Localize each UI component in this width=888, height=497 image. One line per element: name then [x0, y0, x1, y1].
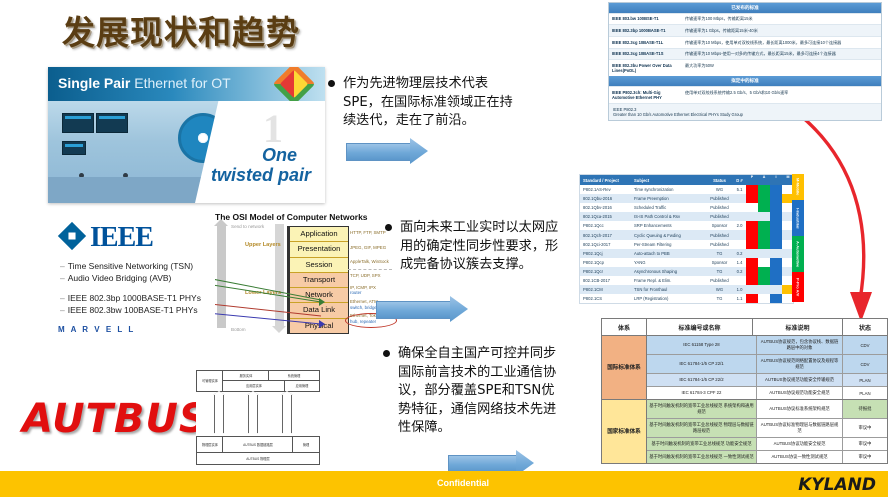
industry-swatch: [746, 185, 758, 194]
osi-diagram: Send to network Bottom Upper Layers Lowe…: [215, 224, 350, 332]
cell-standard: P802.1Qcp: [580, 260, 631, 265]
cell-standard-desc: AUTBUS协议功能安全规范: [757, 438, 843, 450]
ieee-item-label: IEEE 802.3bp 1000BASE-T1 PHYs: [68, 293, 201, 303]
cell-standard: P802.1CM: [580, 287, 631, 292]
table-row: IEEE 803.bw 100BSE-T1 传输速率为100 Mbps，传输距离…: [609, 13, 881, 25]
industry-col-p: P: [746, 175, 758, 184]
cell-industry: [746, 240, 794, 249]
legend-proav: P-Pro A/V: [792, 272, 804, 302]
cell-status: TG: [706, 269, 733, 274]
cell-standard-desc: AUTBUS协议规范网络配置协议及规程等规范: [757, 355, 843, 373]
cell-description: 传输速率为100 Mbps，传输距离15米: [681, 14, 881, 25]
cell-standard: IEEE 802.3bp 1000BASE-T1: [609, 25, 681, 36]
bullet-point-1: 作为先进物理层技术代表SPE，在国际标准领域正在持续迭代，走在了前沿。: [343, 75, 513, 131]
cell-industry: [746, 267, 794, 276]
table-row: IEC 61784-1/5 CP 22/2AUTBUS协议规范功能安全传输规范P…: [647, 374, 887, 387]
industry-swatch: [746, 267, 758, 276]
table-header-row: Standard / Project Subject Status D # P …: [580, 175, 793, 185]
industry-swatch: [770, 212, 782, 221]
bullet-text: 确保全自主国产可控并同步国际前言技术的工业通信协议，部分覆盖SPE和TSN优势特…: [398, 346, 556, 435]
slide-canvas: 发展现状和趋势 Single Pair Ethernet for OT 1 On…: [0, 0, 888, 497]
table-row: IEEE 802.3bp 1000BASE-T1 传输速率为1 Gbps，传输距…: [609, 24, 881, 36]
table-row: IEEE 802.3cg 10BASE-T1S 传输速率为10 Mbps-使用一…: [609, 48, 881, 60]
cell-draft: 1.4: [733, 260, 746, 265]
arch-bidirectional-arrow-icon: [282, 394, 292, 434]
industry-swatch: [758, 258, 770, 267]
legend-mobile: M-Mobile: [792, 174, 804, 200]
column-header-system: 体系: [602, 319, 647, 336]
column-header-draft: D #: [733, 178, 746, 183]
footer-bar: Confidential KYLAND: [0, 471, 888, 497]
table-row: P802.1CSLRP (Registration)TG1.1: [580, 294, 793, 303]
cell-standard-desc: AUTBUS协议一致性测试规范: [757, 451, 843, 463]
osi-layer: Transport: [290, 273, 348, 288]
osi-protocol-text: HTTP, FTP, SMTP: [350, 230, 394, 236]
cell-standard: P802.1AS-Rev: [580, 187, 631, 192]
monitor-icon: [62, 141, 86, 155]
industry-swatch: [746, 258, 758, 267]
table-row: P802.1QcrAsynchronous ShapingTG0.2: [580, 267, 793, 276]
cell-subject: Time synchronization: [631, 187, 706, 192]
industry-swatch: [746, 285, 758, 294]
cell-status: CDV: [843, 355, 887, 373]
cell-draft: 1.1: [733, 296, 746, 301]
group-rows: 基于时间触发机制的宽带工业总线规范 系统架构和通用规范AUTBUS协议标准系统架…: [647, 400, 887, 463]
industry-swatch: [770, 249, 782, 258]
table-row: 802.1Qbu-2016Frame PreemptionPublished: [580, 194, 793, 203]
arch-box: 可管理实体: [196, 370, 224, 392]
osi-send-note: Send to network: [231, 224, 264, 230]
industry-swatch: [770, 230, 782, 239]
cell-status: WG: [706, 287, 733, 292]
industry-swatch: [758, 194, 770, 203]
table-row: 802.1Qci-2017Per-Stream FilteringPublish…: [580, 240, 793, 249]
bullet-marker-icon: [328, 80, 335, 87]
cell-description: 使用单对双绞线系统传输2.5 Gb/s、5 Gb/s和10 Gb/s速率: [681, 87, 881, 103]
table-row: 基于时间触发机制的宽带工业总线规范 系统架构和通用规范AUTBUS协议标准系统架…: [647, 400, 887, 419]
table-group-national: 国家标准体系 基于时间触发机制的宽带工业总线规范 系统架构和通用规范AUTBUS…: [602, 399, 887, 463]
cell-status: 审议中: [843, 438, 887, 450]
list-item: –Time Sensitive Networking (TSN): [60, 260, 240, 272]
cell-status: Sponsor: [706, 223, 733, 228]
industry-col-i: I: [770, 175, 782, 184]
industry-swatch: [746, 212, 758, 221]
table-header-row: 体系 标准编号或名称 标准说明 状态: [602, 319, 887, 336]
spe-standards-table: 已发布的标准 IEEE 803.bw 100BSE-T1 传输速率为100 Mb…: [608, 2, 882, 121]
cell-industry: [746, 185, 794, 194]
industry-swatch: [746, 221, 758, 230]
table-row: IEEE 802.3cg 10BASE-T1L 传输速率为10 Mbps，使用单…: [609, 36, 881, 48]
osi-up-arrow-icon: [217, 224, 226, 328]
cell-standard-name: IEC 61784-3 CPF 22: [647, 387, 757, 399]
cell-standard: IEEE 802.3cg 10BASE-T1S: [609, 49, 681, 60]
column-header-status: Status: [706, 178, 733, 183]
ieee-item-label: Audio Video Bridging (AVB): [68, 273, 172, 283]
spe-banner-headline: Single Pair Ethernet for OT: [58, 75, 231, 91]
industry-swatch: [770, 221, 782, 230]
table-row: P802.1QccSRP EnhancementsSponsor2.0: [580, 221, 793, 230]
cell-status: TG: [706, 251, 733, 256]
cell-subject: Frame Repl. & Elim.: [631, 278, 706, 283]
cell-industry: [746, 203, 794, 212]
osi-protocol: JPEG, GIF, MPEG: [348, 240, 394, 254]
cell-description-text: Greater than 10 Gb/s Automotive Ethernet…: [613, 112, 743, 117]
legend-automotive: A-Automotive: [792, 236, 804, 272]
cell-standard-name: 基于时间触发机制的宽带工业总线规范 一致性测试规范: [647, 451, 757, 463]
table-row: 基于时间触发机制的宽带工业总线规范 一致性测试规范AUTBUS协议一致性测试规范…: [647, 451, 887, 463]
list-item: –IEEE 802.3bw 100BASE-T1 PHYs: [60, 304, 240, 316]
arch-box: AUTBUS 物理层: [196, 452, 320, 465]
osi-layer: Physical: [290, 319, 348, 333]
osi-lower-layers-label: Lower Layers: [245, 290, 281, 297]
bullet-text: 面向未来工业实时以太网应用的确定性同步性要求，形成完备协议簇去支撑。: [400, 220, 558, 272]
table-row: IEEE P802.3Greater than 10 Gb/s Automoti…: [609, 103, 881, 120]
industry-swatch: [758, 185, 770, 194]
list-item: –IEEE 802.3bp 1000BASE-T1 PHYs: [60, 292, 240, 304]
industry-swatch: [746, 203, 758, 212]
cell-draft: 1.0: [733, 287, 746, 292]
cell-standard: 802.1Qbu-2016: [580, 196, 631, 201]
table-row: 802.1Qbv-2016Scheduled TrafficPublished: [580, 203, 793, 212]
osi-protocol: TCP, UDP, SPX: [348, 269, 394, 283]
column-header-status: 状态: [843, 319, 887, 336]
ieee-diamond-logo-icon: [58, 222, 86, 250]
osi-layer: Network: [290, 288, 348, 303]
cell-draft: 5.1: [733, 187, 746, 192]
cell-standard: P802.1Qcc: [580, 223, 631, 228]
cell-status: CDV: [843, 336, 887, 354]
industry-swatch: [758, 249, 770, 258]
osi-protocol: AppleTalk, WinSock: [348, 255, 394, 269]
table-row: 802.1Qch-2017Cyclic Queuing & FwdingPubl…: [580, 230, 793, 239]
osi-protocol-text: TCP, UDP, SPX: [350, 273, 394, 279]
arch-bidirectional-arrow-icon: [248, 394, 258, 434]
autbus-standards-table: 体系 标准编号或名称 标准说明 状态 国际标准体系 IEC 61158 Type…: [601, 318, 888, 464]
cell-industry: [746, 194, 794, 203]
industry-swatch: [770, 276, 782, 285]
cell-status: 待报批: [843, 400, 887, 418]
cell-industry: [746, 276, 794, 285]
table-row: IEC 61784-3 CPF 22AUTBUS协议规范功能安全规范PLAN: [647, 387, 887, 399]
cell-status: Published: [706, 205, 733, 210]
bullet-point-3: 确保全自主国产可控并同步国际前言技术的工业通信协议，部分覆盖SPE和TSN优势特…: [398, 345, 563, 438]
column-header-standard: Standard / Project: [580, 178, 631, 183]
cell-status: Published: [706, 214, 733, 219]
cell-subject: Frame Preemption: [631, 196, 706, 201]
industry-swatch: [746, 276, 758, 285]
spe-factory-illustration: 1 One twisted pair: [48, 101, 325, 203]
bullet-marker-icon: [383, 350, 390, 357]
osi-layer: Session: [290, 258, 348, 273]
list-item: –Audio Video Bridging (AVB): [60, 272, 240, 284]
industry-swatch: [746, 294, 758, 303]
osi-layer: Presentation: [290, 242, 348, 257]
cell-standard-desc: AUTBUS协议标准物理层与数据链路层规范: [757, 419, 843, 437]
legend-industrial: I-Industrial: [792, 200, 804, 236]
group-name: 国际标准体系: [602, 336, 647, 399]
table-section-header: 拟定中的标准: [609, 76, 881, 86]
group-name: 国家标准体系: [602, 400, 647, 463]
cell-draft: 2.0: [733, 223, 746, 228]
table-row: P802.1QcjAuto-attach to PBBTG0.2: [580, 249, 793, 258]
column-header-name: 标准编号或名称: [647, 319, 753, 336]
monitor-icon: [96, 113, 128, 133]
kyland-logo: KYLAND: [798, 475, 876, 495]
cell-status: PLAN: [843, 387, 887, 399]
industry-swatch: [758, 276, 770, 285]
cell-description: 传输速率为10 Mbps-使用一对多的传输方式，最长距离15米，最多可连接4个连…: [681, 49, 881, 60]
industry-swatch: [758, 240, 770, 249]
industry-swatch: [758, 230, 770, 239]
osi-down-arrow-icon: [275, 224, 284, 328]
cell-status: 审议中: [843, 419, 887, 437]
cell-industry: [746, 212, 794, 221]
cell-standard-name: 基于时间触发机制的宽带工业总线规范 功能安全规范: [647, 438, 757, 450]
table-row: P802.1QcpYANGSponsor1.4: [580, 258, 793, 267]
cell-draft: 0.2: [733, 269, 746, 274]
bullet-text: 作为先进物理层技术代表SPE，在国际标准领域正在持续迭代，走在了前沿。: [343, 76, 513, 128]
industry-swatch: [758, 221, 770, 230]
ieee-item-label: Time Sensitive Networking (TSN): [68, 261, 193, 271]
cell-subject: Scheduled Traffic: [631, 205, 706, 210]
cell-industry: [746, 230, 794, 239]
table-row: 802.1CB-2017Frame Repl. & Elim.Published: [580, 276, 793, 285]
table-row: IEEE P802.3ch: Multi-Gig Automotive Ethe…: [609, 86, 881, 103]
cell-standard: IEEE P802.3: [613, 107, 636, 112]
osi-upper-layers-label: Upper Layers: [245, 242, 281, 249]
ieee-item-label: IEEE 802.3bw 100BASE-T1 PHYs: [68, 305, 198, 315]
confidential-label: Confidential: [437, 478, 489, 488]
industry-swatch: [758, 203, 770, 212]
spe-headline-rest: Ethernet for OT: [130, 75, 230, 91]
cell-standard-name: IEC 61158 Type 28: [647, 336, 757, 354]
ieee-logo-text: IEEE: [90, 222, 153, 254]
cell-draft: 0.2: [733, 251, 746, 256]
cell-subject: Per-Stream Filtering: [631, 242, 706, 247]
table-row: P802.1CMTSN for FronthaulWG1.0: [580, 285, 793, 294]
cell-standard: 802.1Qbv-2016: [580, 205, 631, 210]
cell-industry: [746, 294, 794, 303]
cell-industry: [746, 221, 794, 230]
industry-swatch: [770, 258, 782, 267]
cell-status: WG: [706, 187, 733, 192]
industry-swatch: [746, 240, 758, 249]
industry-swatch: [770, 285, 782, 294]
cell-status: TG: [706, 296, 733, 301]
tsn-table-body: P802.1AS-RevTime synchronizationWG5.1802…: [580, 185, 793, 303]
cell-standard: P802.1Qcr: [580, 269, 631, 274]
cell-status: Published: [706, 242, 733, 247]
osi-protocol-text: JPEG, GIF, MPEG: [350, 245, 394, 251]
spe-banner-image: Single Pair Ethernet for OT 1 One twiste…: [48, 67, 325, 203]
column-header-subject: Subject: [631, 178, 706, 183]
cell-standard-desc: AUTBUS协议规范，包含协议栈、数据链路层中的对象: [757, 336, 843, 354]
osi-protocol-text: AppleTalk, WinSock: [350, 259, 394, 265]
cell-standard-name: 基于时间触发机制的宽带工业总线规范 系统架构和通用规范: [647, 400, 757, 418]
industry-swatch: [770, 203, 782, 212]
cell-standard: 802.1CB-2017: [580, 278, 631, 283]
table-row: IEC 61784-1/5 CP 22/1AUTBUS协议规范网络配置协议及规程…: [647, 355, 887, 374]
industry-swatch: [758, 212, 770, 221]
industry-swatch: [770, 294, 782, 303]
cell-standard: IEEE 803.bw 100BSE-T1: [609, 14, 681, 25]
cell-subject: Cyclic Queuing & Fwding: [631, 233, 706, 238]
bullet-marker-icon: [385, 224, 392, 231]
osi-bottom-note: Bottom: [231, 327, 246, 332]
cell-subject: Auto-attach to PBB: [631, 251, 706, 256]
industry-swatch: [758, 294, 770, 303]
cell-subject: TSN for Fronthaul: [631, 287, 706, 292]
spe-tagline-line1: One: [262, 145, 297, 166]
industry-swatch: [758, 267, 770, 276]
column-header-desc: 标准说明: [753, 319, 843, 336]
cell-subject: SRP Enhancements: [631, 223, 706, 228]
cell-standard-desc: AUTBUS协议规范功能安全规范: [757, 387, 843, 399]
cell-subject: YANG: [631, 260, 706, 265]
osi-layer-stack: Application Presentation Session Transpo…: [287, 226, 349, 334]
page-title: 发展现状和趋势: [62, 6, 300, 54]
table-row: 基于时间触发机制的宽带工业总线规范 物理层与数据链路层规范AUTBUS协议标准物…: [647, 419, 887, 438]
cell-subject: Asynchronous Shaping: [631, 269, 706, 274]
group-rows: IEC 61158 Type 28AUTBUS协议规范，包含协议栈、数据链路层中…: [647, 336, 887, 399]
cell-status: Sponsor: [706, 260, 733, 265]
cell-industry: [746, 285, 794, 294]
spe-tagline-line2: twisted pair: [211, 165, 311, 186]
cell-standard: 802.1Qci-2017: [580, 242, 631, 247]
spe-headline-bold: Single Pair: [58, 75, 130, 91]
cell-standard: P802.1CS: [580, 296, 631, 301]
osi-diagram-title: The OSI Model of Computer Networks: [215, 212, 368, 222]
arch-bidirectional-arrow-icon: [214, 394, 224, 434]
cell-status: Published: [706, 233, 733, 238]
industry-col-a: A: [758, 175, 770, 184]
cell-description: 传输速率为10 Mbps，使用单对双绞线系统，最长距离1000米，最多可连接10…: [681, 37, 881, 48]
ieee-feature-list: –Time Sensitive Networking (TSN) –Audio …: [60, 260, 240, 316]
tsn-industry-legend: M-Mobile I-Industrial A-Automotive P-Pro…: [792, 174, 804, 302]
industry-swatch: [770, 185, 782, 194]
osi-divider: [348, 269, 392, 270]
industry-swatch: [758, 285, 770, 294]
table-row: 802.1Qca-2015IS-IS Path Control & RsvPub…: [580, 212, 793, 221]
cell-industry: [746, 258, 794, 267]
table-row: 基于时间触发机制的宽带工业总线规范 功能安全规范AUTBUS协议功能安全规范审议…: [647, 438, 887, 451]
cell-status: Published: [706, 196, 733, 201]
autbus-architecture-diagram: 可管理实体 服务实体 系统管理 应用层实体 应用管理 物理层实体 AUTBUS …: [196, 370, 318, 466]
industry-swatch: [746, 230, 758, 239]
industry-swatch: [770, 240, 782, 249]
autbus-wordmark: AUTBUS: [22, 396, 209, 442]
cell-status: Published: [706, 278, 733, 283]
cell-standard: IEEE 802.3bu Power Over Data Lines(PoDL): [609, 60, 681, 76]
tsn-projects-table: Standard / Project Subject Status D # P …: [579, 174, 794, 304]
table-section-header: 已发布的标准: [609, 3, 881, 13]
monitor-icon: [62, 113, 94, 133]
cell-status: 审议中: [843, 451, 887, 463]
table-row: P802.1AS-RevTime synchronizationWG5.1: [580, 185, 793, 194]
cell-standard-name: IEC 61784-1/5 CP 22/1: [647, 355, 757, 373]
cell-industry: [746, 249, 794, 258]
cell-standard-desc: AUTBUS协议规范功能安全传输规范: [757, 374, 843, 386]
cell-description: 最大功率为50W: [681, 60, 881, 76]
cell-subject: LRP (Registration): [631, 296, 706, 301]
table-group-international: 国际标准体系 IEC 61158 Type 28AUTBUS协议规范，包含协议栈…: [602, 336, 887, 399]
cell-standard-desc: AUTBUS协议标准系统架构规范: [757, 400, 843, 418]
marvell-logo-text: M A R V E L L: [58, 325, 135, 334]
blue-arrow-2: [376, 296, 468, 322]
cell-standard: IEEE P802.3ch: Multi-Gig Automotive Ethe…: [609, 87, 681, 103]
industry-swatch: [746, 249, 758, 258]
cell-standard: P802.1Qcj: [580, 251, 631, 256]
cell-standard: IEEE 802.3cg 10BASE-T1L: [609, 37, 681, 48]
osi-layer: Application: [290, 227, 348, 242]
industry-swatch: [770, 194, 782, 203]
column-header-industry: P A I M: [746, 175, 794, 184]
table-row: IEC 61158 Type 28AUTBUS协议规范，包含协议栈、数据链路层中…: [647, 336, 887, 355]
industry-swatch: [770, 267, 782, 276]
cell-standard: 802.1Qca-2015: [580, 214, 631, 219]
cell-standard: 802.1Qch-2017: [580, 233, 631, 238]
cell-standard-name: 基于时间触发机制的宽带工业总线规范 物理层与数据链路层规范: [647, 419, 757, 437]
osi-layer: Data Link: [290, 303, 348, 318]
cell-subject: IS-IS Path Control & Rsv: [631, 214, 706, 219]
table-row: IEEE 802.3bu Power Over Data Lines(PoDL)…: [609, 59, 881, 76]
cell-standard-name: IEC 61784-1/5 CP 22/2: [647, 374, 757, 386]
cell-description: 传输速率为1 Gbps，传输距离15米-40米: [681, 25, 881, 36]
bullet-point-2: 面向未来工业实时以太网应用的确定性同步性要求，形成完备协议簇去支撑。: [400, 219, 565, 275]
cell-description: IEEE P802.3Greater than 10 Gb/s Automoti…: [609, 104, 747, 120]
blue-arrow-1: [346, 138, 428, 164]
cell-status: PLAN: [843, 374, 887, 386]
industry-swatch: [746, 194, 758, 203]
